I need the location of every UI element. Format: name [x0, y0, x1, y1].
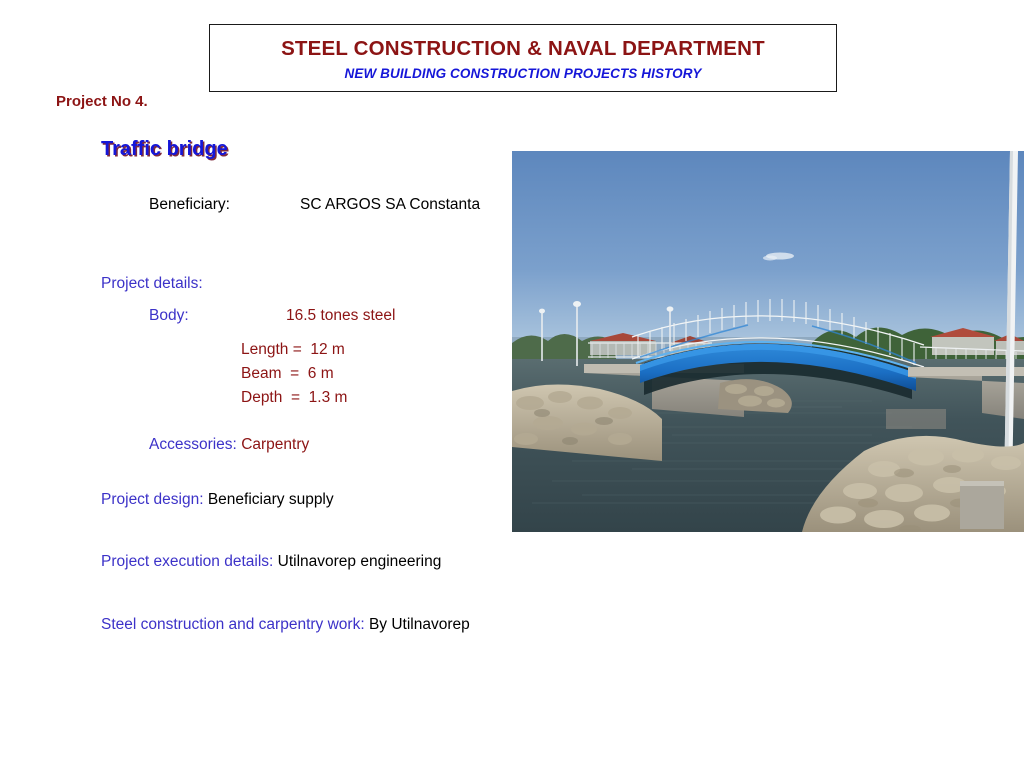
project-execution-row: Project execution details: Utilnavorep e… — [101, 553, 441, 571]
beneficiary-value: SC ARGOS SA Constanta — [300, 196, 480, 214]
beneficiary-label: Beneficiary: — [149, 196, 300, 214]
dimensions-list: Length = 12 m Beam = 6 m Depth = 1.3 m — [241, 338, 347, 411]
body-row: Body:16.5 tones steel — [149, 307, 395, 325]
slide-root: STEEL CONSTRUCTION & NAVAL DEPARTMENT NE… — [0, 0, 1024, 768]
steel-work-label: Steel construction and carpentry work: — [101, 616, 365, 633]
body-label: Body: — [149, 307, 286, 325]
accessories-row: Accessories: Carpentry — [149, 436, 309, 454]
header-box: STEEL CONSTRUCTION & NAVAL DEPARTMENT NE… — [209, 24, 837, 92]
dimension-length: Length = 12 m — [241, 338, 347, 362]
project-number: Project No 4. — [56, 93, 148, 110]
project-execution-label: Project execution details: — [101, 553, 273, 570]
project-design-value: Beneficiary supply — [208, 491, 334, 508]
body-value: 16.5 tones steel — [286, 307, 395, 324]
header-title: STEEL CONSTRUCTION & NAVAL DEPARTMENT — [281, 37, 765, 61]
project-design-label: Project design: — [101, 491, 204, 508]
accessories-label: Accessories: — [149, 436, 237, 453]
page-title: Traffic bridge — [101, 138, 228, 161]
accessories-value: Carpentry — [241, 436, 309, 453]
dimension-depth: Depth = 1.3 m — [241, 386, 347, 410]
project-design-row: Project design: Beneficiary supply — [101, 491, 334, 509]
dimension-beam: Beam = 6 m — [241, 362, 347, 386]
steel-work-value: By Utilnavorep — [369, 616, 470, 633]
bridge-photo-illustration — [512, 151, 1024, 532]
steel-work-row: Steel construction and carpentry work: B… — [101, 616, 470, 634]
project-execution-value: Utilnavorep engineering — [278, 553, 442, 570]
traffic-bridge-photo — [512, 151, 1024, 532]
header-subtitle: NEW BUILDING CONSTRUCTION PROJECTS HISTO… — [345, 66, 702, 81]
project-details-label: Project details: — [101, 275, 203, 293]
beneficiary-row: Beneficiary:SC ARGOS SA Constanta — [149, 196, 480, 214]
